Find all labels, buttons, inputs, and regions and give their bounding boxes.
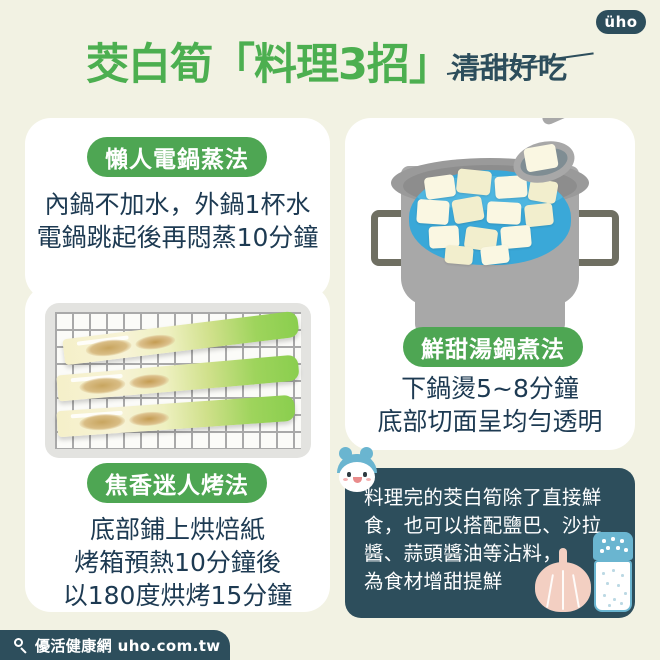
boil-method-text: 下鍋燙5~8分鐘 底部切面呈均勻透明 bbox=[345, 372, 635, 438]
pot-illustration bbox=[345, 118, 635, 333]
title-sub-text: 清甜好吃 bbox=[451, 48, 567, 88]
boil-line-1: 下鍋燙5~8分鐘 bbox=[345, 372, 635, 405]
footer-bar[interactable]: 優活健康網 uho.com.tw bbox=[0, 630, 230, 660]
footer-site-text: 優活健康網 uho.com.tw bbox=[35, 635, 221, 656]
bake-line-2: 烤箱預熱10分鐘後 bbox=[25, 546, 330, 579]
shoot-chunk bbox=[480, 244, 510, 265]
spoon-handle bbox=[540, 118, 635, 126]
boil-line-2: 底部切面呈均勻透明 bbox=[345, 405, 635, 438]
garlic-icon bbox=[535, 548, 591, 612]
page-title: 茭白筍「料理3招」 清甜好吃 bbox=[0, 36, 660, 96]
logo-text: üho bbox=[604, 13, 637, 31]
shoot-chunk bbox=[424, 174, 457, 200]
steam-method-text: 內鍋不加水，外鍋1杯水 電鍋跳起後再悶蒸10分鐘 bbox=[25, 188, 330, 254]
bake-method-text: 底部鋪上烘焙紙 烤箱預熱10分鐘後 以180度烘烤15分鐘 bbox=[25, 513, 330, 612]
shoot-chunk bbox=[524, 203, 554, 228]
uho-logo[interactable]: üho bbox=[596, 10, 646, 34]
mascot-icon bbox=[332, 447, 382, 493]
steam-line-2: 電鍋跳起後再悶蒸10分鐘 bbox=[25, 221, 330, 254]
search-icon bbox=[14, 638, 29, 653]
bake-line-3: 以180度烘烤15分鐘 bbox=[25, 579, 330, 612]
shoot-chunk bbox=[444, 245, 473, 265]
steam-line-1: 內鍋不加水，外鍋1杯水 bbox=[25, 188, 330, 221]
note-line-2: 食，也可以搭配鹽巴、沙拉 bbox=[364, 512, 622, 540]
salt-shaker-icon bbox=[593, 532, 633, 612]
shoot-chunk bbox=[456, 168, 492, 195]
note-line-1: 料理完的茭白筍除了直接鮮 bbox=[364, 484, 622, 512]
title-main-text: 茭白筍「料理3招」 bbox=[86, 36, 451, 94]
badge-boil-method: 鮮甜湯鍋煮法 bbox=[403, 327, 583, 367]
bake-line-1: 底部鋪上烘焙紙 bbox=[25, 513, 330, 546]
shoot-chunk bbox=[451, 196, 485, 225]
grill-rack-illustration bbox=[45, 303, 311, 458]
badge-steam-method: 懶人電鍋蒸法 bbox=[87, 137, 267, 177]
shoot-chunk bbox=[486, 201, 521, 225]
shoot-chunk bbox=[416, 199, 450, 225]
badge-bake-method: 焦香迷人烤法 bbox=[87, 463, 267, 503]
infographic-canvas: üho 茭白筍「料理3招」 清甜好吃 懶人電鍋蒸法 內鍋不加水，外鍋1杯水 電鍋… bbox=[0, 0, 660, 660]
